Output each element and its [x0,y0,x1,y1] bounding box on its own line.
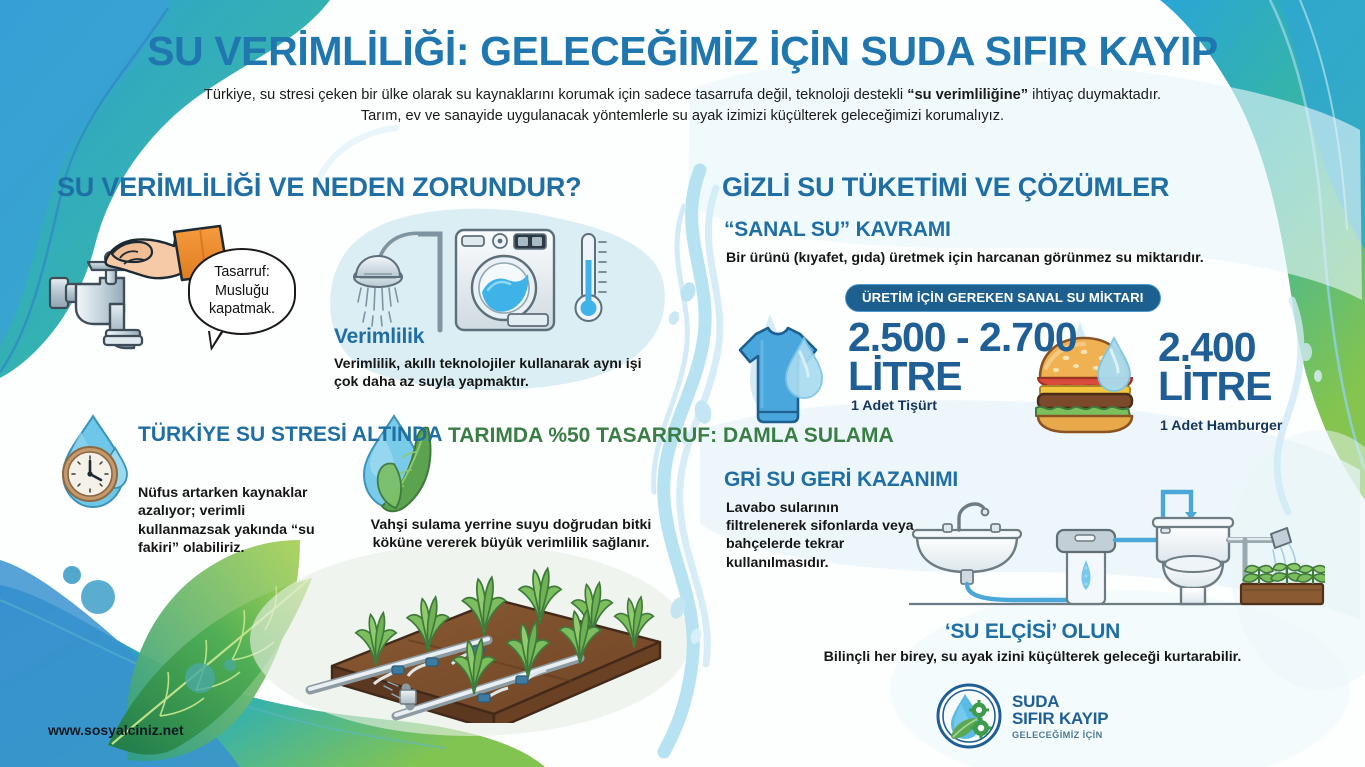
ambassador-body-wrap: Bilinçli her birey, su ayak izini küçült… [0,648,1365,666]
greywater-title: GRİ SU GERİ KAZANIMI [724,468,958,492]
infographic-poster: SU VERİMLİLİĞİ: GELECEĞİMİZ İÇİN SUDA SI… [0,0,1365,767]
drip-irrigation-body: Vahşi sulama yerrine suyu doğrudan bitki… [356,516,666,553]
virtual-water-title: “SANAL SU” KAVRAMI [724,218,951,242]
intro-text-b: ihtiyaç duymaktadır. [1028,87,1161,103]
shower-washer-thermometer-illustration [348,222,648,337]
speech-bubble-text: Tasarruf: Musluğu kapatmak. [188,248,296,335]
greywater-body: Lavabo sularının filtrelenerek sifonlard… [726,499,916,572]
tshirt-amount-unit: LİTRE [848,357,1077,396]
ambassador-title: ‘SU ELÇİSİ’ OLUN [945,620,1120,643]
tshirt-amount: 2.500 - 2.700 LİTRE [848,318,1077,396]
header-block: SU VERİMLİLİĞİ: GELECEĞİMİZ İÇİN SUDA SI… [0,30,1365,127]
drip-irrigation-title: TARIMDA %50 TASARRUF: DAMLA SULAMA [448,424,894,448]
water-drop-clock-icon [57,412,135,512]
tshirt-amount-value: 2.500 - 2.700 [848,318,1077,357]
logo-tagline: GELECEĞİMİZ İÇİN [1012,730,1108,740]
virtual-water-body: Bir ürünü (kıyafet, gıda) üretmek için h… [726,249,1266,267]
page-title: SU VERİMLİLİĞİ: GELECEĞİMİZ İÇİN SUDA SI… [0,30,1365,73]
intro-emphasis: “su verimliliğine” [907,87,1028,103]
ambassador-body: Bilinçli her birey, su ayak izini küçült… [824,648,1242,666]
logo-text-block: SUDA SIFIR KAYIP GELECEĞİMİZ İÇİN [1012,693,1108,740]
footer-url[interactable]: www.sosyalciniz.net [48,722,184,738]
hamburger-amount-unit: LİTRE [1158,367,1271,406]
intro-text-a: Türkiye, su stresi çeken bir ülke olarak… [204,87,907,103]
greywater-system-illustration [905,478,1325,613]
hamburger-caption: 1 Adet Hamburger [1160,418,1282,434]
hamburger-amount-value: 2.400 [1158,328,1271,367]
intro-paragraph: Türkiye, su stresi çeken bir ülke olarak… [0,85,1365,127]
speech-bubble: Tasarruf: Musluğu kapatmak. [188,248,296,335]
tshirt-caption: 1 Adet Tişürt [851,398,937,414]
logo-line-2: SIFIR KAYIP [1012,710,1108,727]
brand-logo: SUDA SIFIR KAYIP GELECEĞİMİZ İÇİN [935,680,1155,752]
intro-line-2: Tarım, ev ve sanayide uygulanacak yöntem… [0,106,1365,127]
tshirt-icon [714,312,842,442]
left-column-heading: SU VERİMLİLİĞİ VE NEDEN ZORUNDUR? [57,172,581,203]
water-stress-body: Nüfus artarken kaynaklar azalıyor; verim… [138,484,324,558]
efficiency-body: Verimlilik, akıllı teknolojiler kullanar… [334,355,644,392]
right-column-heading: GİZLİ SU TÜKETİMİ VE ÇÖZÜMLER [722,172,1169,203]
logo-emblem-icon [935,682,1003,750]
hamburger-amount: 2.400 LİTRE [1158,328,1271,406]
ambassador-title-wrap: ‘SU ELÇİSİ’ OLUN [0,620,1365,644]
virtual-water-badge: ÜRETİM İÇİN GEREKEN SANAL SU MİKTARI [845,284,1161,312]
efficiency-title: Verimlilik [334,325,424,349]
water-stress-title: TÜRKİYE SU STRESİ ALTINDA [138,423,443,447]
logo-line-1: SUDA [1012,693,1108,710]
